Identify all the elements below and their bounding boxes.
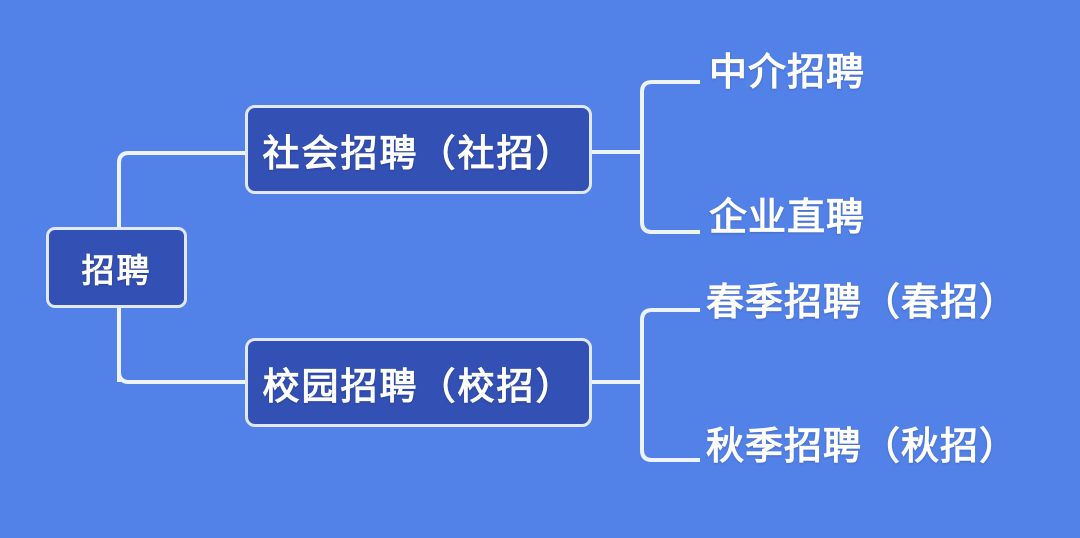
connector-root-to-social	[119, 153, 245, 163]
node-campus-recruitment[interactable]: 校园招聘（校招）	[245, 338, 592, 427]
connector-root-to-campus	[119, 372, 245, 382]
node-campus-recruitment-label: 校园招聘（校招）	[263, 356, 575, 410]
node-root-label: 招聘	[82, 244, 152, 292]
leaf-agency-recruitment[interactable]: 中介招聘	[709, 54, 865, 92]
node-social-recruitment[interactable]: 社会招聘（社招）	[245, 105, 592, 194]
connector-social-to-direct	[642, 222, 700, 232]
diagram-canvas: 招聘 社会招聘（社招） 校园招聘（校招） 中介招聘 企业直聘 春季招聘（春招） …	[0, 0, 1080, 538]
connector-campus-to-spring	[642, 310, 700, 320]
connector-social-to-agency	[642, 82, 700, 92]
leaf-spring-recruitment[interactable]: 春季招聘（春招）	[706, 284, 1018, 322]
leaf-direct-enterprise-recruitment[interactable]: 企业直聘	[709, 199, 865, 237]
leaf-autumn-recruitment[interactable]: 秋季招聘（秋招）	[706, 428, 1018, 466]
connector-campus-to-autumn	[642, 450, 700, 460]
node-social-recruitment-label: 社会招聘（社招）	[263, 123, 575, 177]
node-root-recruitment[interactable]: 招聘	[46, 227, 187, 308]
